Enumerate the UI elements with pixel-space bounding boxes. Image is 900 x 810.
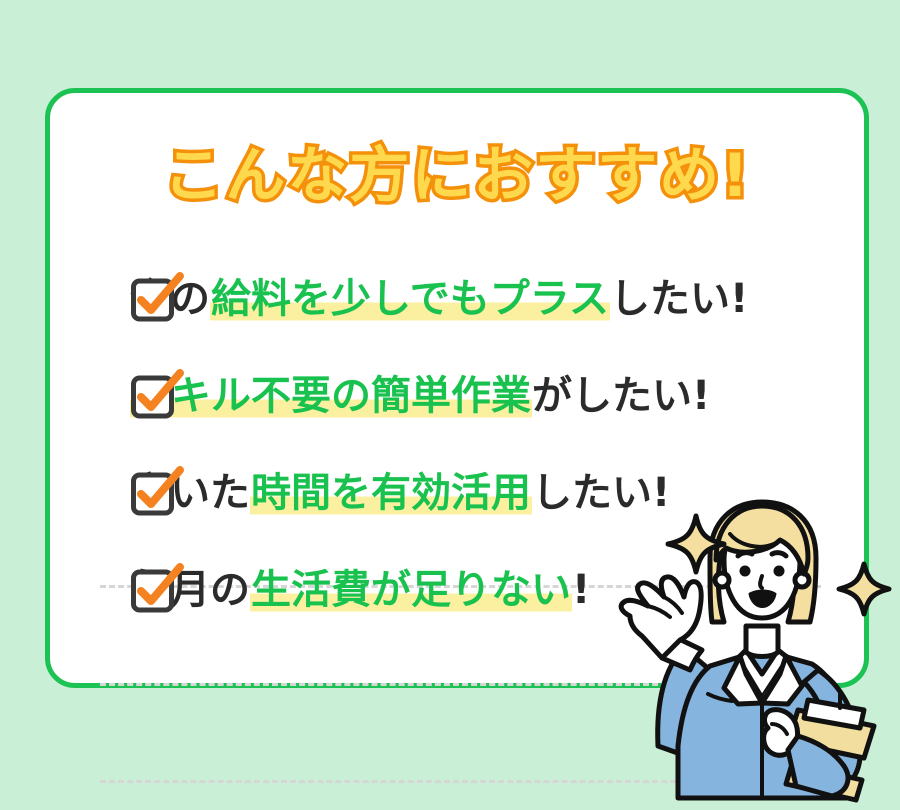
checkbox-checked-icon [130, 369, 184, 423]
checkbox-checked-icon [130, 563, 184, 617]
list-item-text: 空いた時間を有効活用したい! [130, 470, 670, 516]
text-segment-highlight: 時間を有効活用 [250, 470, 532, 516]
text-segment-highlight: 給料を少しでもプラス [210, 276, 610, 322]
checkbox-checked-icon [130, 272, 184, 326]
list-item: 今の給料を少しでもプラスしたい! [45, 250, 869, 347]
promo-poster: こんな方におすすめ! 今の給料を少しでもプラスしたい! スキル不要の簡単作業がし… [0, 0, 900, 810]
text-segment: がしたい! [532, 373, 710, 419]
list-item-text: 毎月の生活費が足りない! [130, 567, 590, 613]
text-segment-highlight: 生活費が足りない [250, 567, 572, 613]
businesswoman-illustration [612, 498, 900, 810]
list-item-text: 今の給料を少しでもプラスしたい! [130, 276, 748, 322]
checkbox-checked-icon [130, 466, 184, 520]
text-segment: ! [572, 567, 590, 613]
text-segment: したい! [610, 276, 748, 322]
text-segment-highlight: スキル不要の簡単作業 [130, 373, 532, 419]
list-item-text: スキル不要の簡単作業がしたい! [130, 373, 710, 419]
list-item: スキル不要の簡単作業がしたい! [45, 347, 869, 444]
